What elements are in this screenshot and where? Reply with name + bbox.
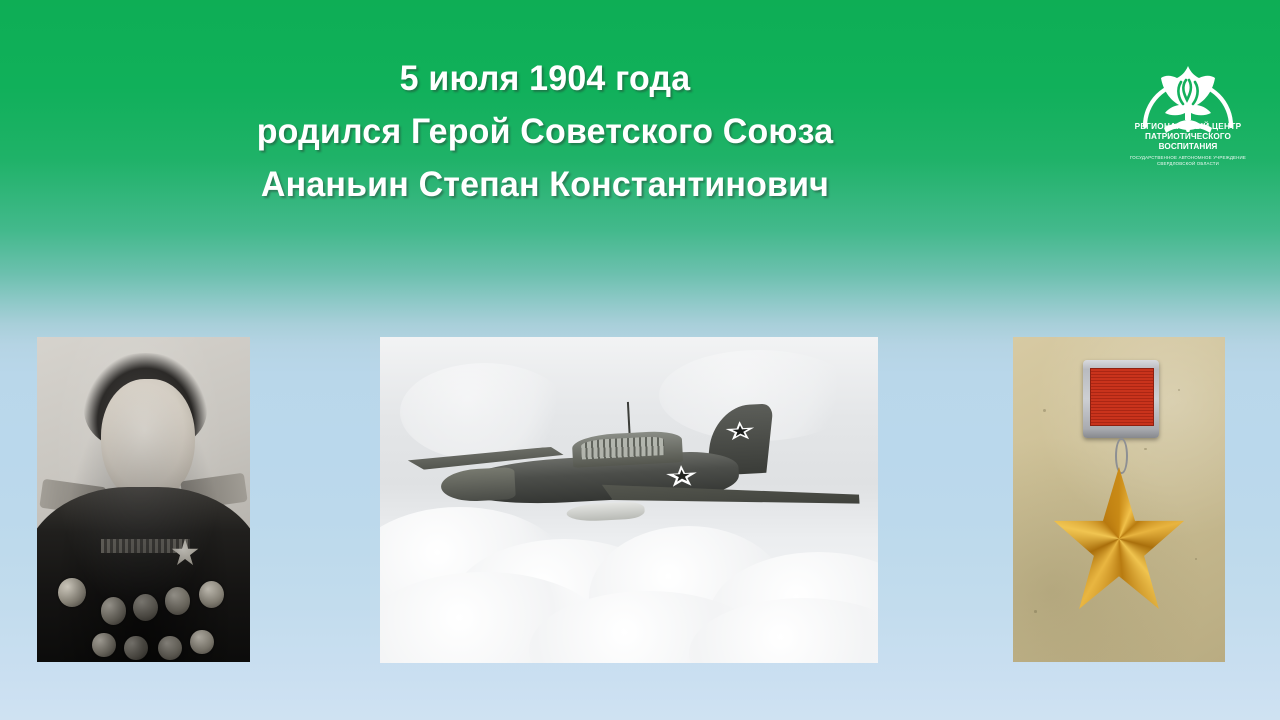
aircraft-artwork <box>380 337 878 663</box>
medal-photo <box>1013 337 1225 662</box>
medal-artwork <box>1013 337 1225 662</box>
title-line-3: Ананьин Степан Константинович <box>16 158 1073 211</box>
slide-canvas: 5 июля 1904 года родился Герой Советског… <box>0 0 1280 720</box>
logo-sub-line-2: СВЕРДЛОВСКОЙ ОБЛАСТИ <box>1123 161 1253 167</box>
medal-ribbon <box>1090 368 1153 427</box>
title-line-1: 5 июля 1904 года <box>16 52 1073 105</box>
logo-name-line-2: ПАТРИОТИЧЕСКОГО ВОСПИТАНИЯ <box>1123 132 1253 152</box>
organization-logo: РЕГИОНАЛЬНЫЙ ЦЕНТР ПАТРИОТИЧЕСКОГО ВОСПИ… <box>1123 42 1253 162</box>
portrait-photo <box>37 337 250 662</box>
logo-name-line-1: РЕГИОНАЛЬНЫЙ ЦЕНТР <box>1123 122 1253 132</box>
aircraft-photo <box>380 337 878 663</box>
medal-link-icon <box>1115 438 1127 475</box>
title-line-2: родился Герой Советского Союза <box>16 105 1073 158</box>
portrait-artwork <box>37 337 250 662</box>
page-title: 5 июля 1904 года родился Герой Советског… <box>0 52 1090 211</box>
gold-star-icon <box>1051 467 1187 623</box>
